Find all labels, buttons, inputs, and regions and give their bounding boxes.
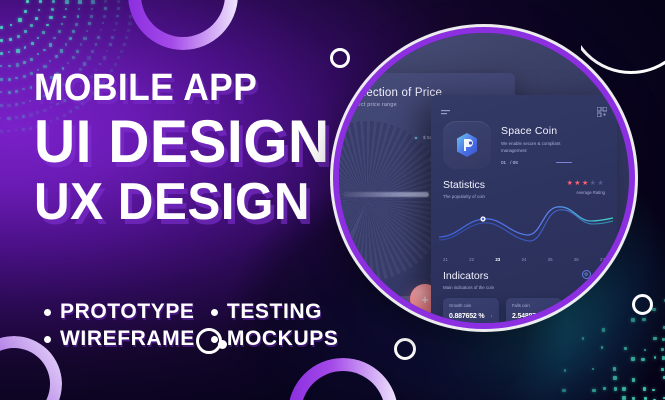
bullet-icon [44,309,51,316]
pager-total: / 08 [510,160,518,165]
gear-icon[interactable]: ⚙ [582,270,591,279]
axis-tick: 27 [600,257,605,262]
axis-tick: 26 [574,257,579,262]
statistics-title: Statistics [443,179,485,191]
headline-sub: UX DESIGN [34,175,348,229]
arc-top-decoration [128,0,240,52]
axis-tick: 25 [548,257,553,262]
chart-x-axis: 21 22 23 24 25 26 27 [443,257,605,262]
feature-label: MOCKUPS [227,327,339,351]
mockup-circle-inner: Selection of Price Select price range $ … [339,33,629,323]
indicator-value: 0.887652 % [449,313,494,320]
indicators-title: Indicators [443,270,494,282]
pagination-dot[interactable]: • [603,272,605,278]
trend-down-icon: ↓ [554,314,557,320]
indicators-heading-group: Indicators Main indicators of the coin [443,270,494,290]
indicator-card[interactable]: Average 6.327 ↑ [569,298,617,323]
axis-tick: 24 [522,257,527,262]
statistics-chart [431,199,617,257]
feature-label: PROTOTYPE [60,300,195,324]
indicator-card[interactable]: Falls coin 2.548870 % ↓ [506,298,562,323]
indicator-value: 6.327 [575,313,617,320]
coin-description: We enable secure & compliant management [501,140,583,154]
ring-decoration-3 [394,338,416,360]
plus-icon: + [421,293,429,306]
list-item: PROTOTYPE [44,300,195,324]
list-item: WIREFRAME [44,327,195,351]
qr-code-icon[interactable] [597,104,607,122]
bullet-icon [211,336,218,343]
indicators-section: Indicators Main indicators of the coin ⚙… [443,270,605,290]
rating-caption: Average Rating [567,190,605,195]
feature-column-right: TESTING MOCKUPS [211,300,339,351]
indicator-title: Growth coin [449,303,494,308]
axis-tick: 22 [469,257,474,262]
indicator-card-list: Growth coin 0.887652 % ↑ Falls coin 2.54… [443,298,617,323]
arc-bottom-decoration [288,358,398,400]
coin-name: Space Coin [501,125,583,137]
coin-logo-icon [443,121,491,169]
ring-decoration-4 [632,294,653,315]
cart-icon[interactable]: 🛒 [359,319,369,323]
menu-icon[interactable] [441,104,450,122]
rating-stars[interactable]: ★★★★★ [567,179,605,187]
pager-progress-bar[interactable] [556,162,572,163]
bullet-icon [44,336,51,343]
statistics-section: Statistics The popularity of coin ★★★★★ … [443,179,605,199]
headline-small: MOBILE APP [34,68,341,108]
pagination-dot[interactable]: • [598,272,600,278]
rating-block: ★★★★★ Average Rating [567,179,605,195]
beam-graphic [343,192,429,197]
indicators-controls: ⚙ • • • [582,270,605,279]
feature-label: TESTING [227,300,322,324]
screen-subtitle: Select price range [349,102,397,108]
coin-meta: Space Coin We enable secure & compliant … [501,121,583,169]
indicator-title: Falls coin [512,303,557,308]
axis-tick-active: 23 [495,257,500,262]
indicator-title: Average [575,303,617,308]
indicator-card[interactable]: Growth coin 0.887652 % ↑ [443,298,499,323]
bullet-icon [211,309,218,316]
trend-up-icon: ↑ [617,314,618,320]
screen-title: Selection of Price [349,87,442,99]
pagination-dot[interactable]: • [594,272,596,278]
indicator-value: 2.548870 % [512,313,557,320]
list-item: TESTING [211,300,339,324]
ring-decoration-1 [330,48,350,68]
arc-top-right-outline [581,0,665,76]
promo-banner: MOBILE APP UI DESIGN UX DESIGN PROTOTYPE… [0,0,665,400]
headline-block: MOBILE APP UI DESIGN UX DESIGN [34,68,364,229]
pager-current: 01 [501,160,506,165]
axis-tick: 21 [443,257,448,262]
feature-label: WIREFRAME [60,327,195,351]
coin-pager: 01 / 08 [501,160,583,165]
trend-up-icon: ↑ [491,314,494,320]
list-item: MOCKUPS [211,327,339,351]
coin-header: Space Coin We enable secure & compliant … [443,121,583,169]
feature-list: PROTOTYPE WIREFRAME TESTING MOCKUPS [44,300,338,351]
feature-column-left: PROTOTYPE WIREFRAME [44,300,195,351]
headline-main: UI DESIGN [34,112,348,172]
statistics-heading-group: Statistics The popularity of coin [443,179,485,199]
screen-topbar [441,104,607,122]
data-point [415,137,417,139]
indicators-subtitle: Main indicators of the coin [443,285,494,290]
mockup-circle-frame: Selection of Price Select price range $ … [333,27,635,329]
app-screen-coin: Space Coin We enable secure & compliant … [431,95,617,323]
